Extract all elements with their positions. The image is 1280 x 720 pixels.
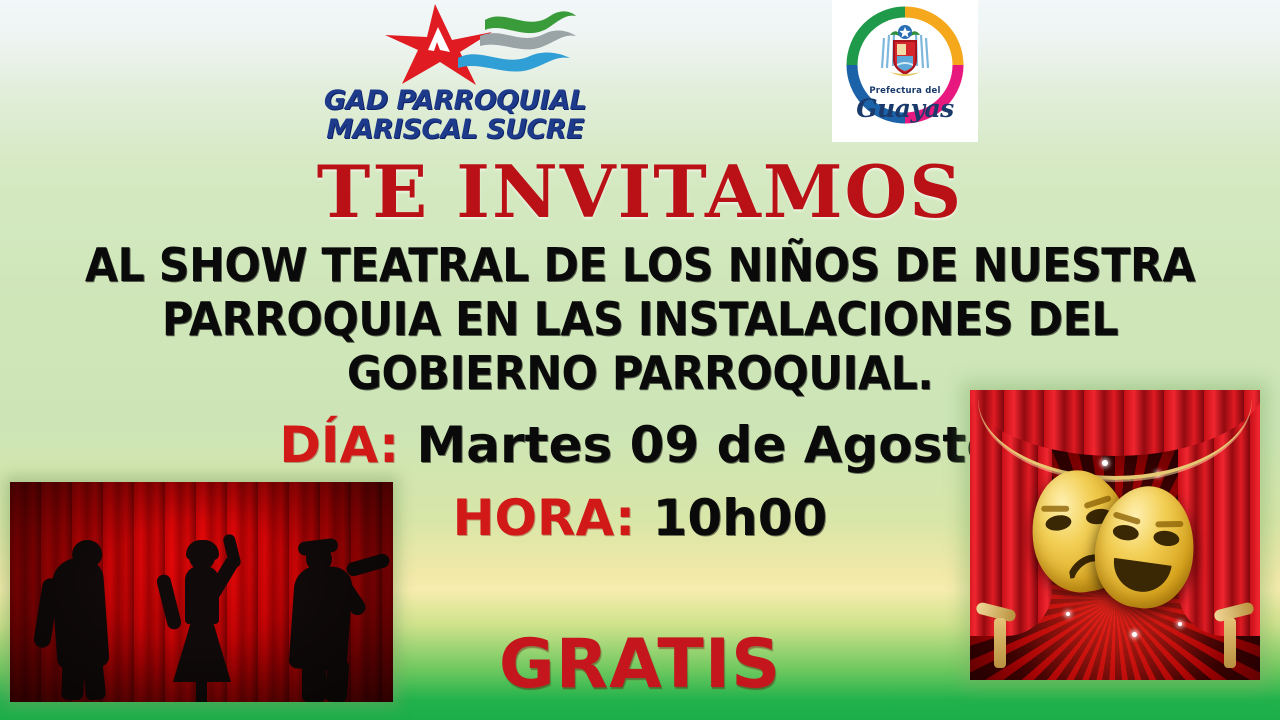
time-value: 10h00	[653, 489, 828, 547]
mask-brow-right	[1155, 521, 1183, 527]
photo-vignette	[10, 482, 393, 702]
sparkle	[1178, 622, 1182, 626]
theatre-masks-photo	[970, 390, 1260, 680]
mask-eye-left	[1112, 523, 1140, 541]
poster-body-text: AL SHOW TEATRAL DE LOS NIÑOS DE NUESTRA …	[82, 238, 1198, 400]
actor-silhouettes-photo	[10, 482, 393, 702]
curtain-tassel-left	[994, 618, 1006, 668]
gad-logo-title-line2: MARISCAL SUCRE	[326, 114, 583, 145]
star-swoosh-icon	[380, 2, 580, 87]
gad-parroquial-logo: GAD PARROQUIAL MARISCAL SUCRE	[300, 2, 610, 147]
poster-headline: TE INVITAMOS	[0, 156, 1280, 228]
mask-mouth-smile	[1110, 558, 1172, 596]
mask-brow-left	[1113, 511, 1142, 525]
day-value: Martes 09 de Agosto	[417, 416, 1001, 474]
sparkle	[1132, 632, 1137, 637]
gad-logo-title: GAD PARROQUIAL MARISCAL SUCRE	[300, 86, 610, 144]
guayas-coat-of-arms-icon	[876, 22, 934, 84]
prefectura-guayas-logo: Prefectura del Guayas	[832, 0, 978, 142]
body-line-2: PARROQUIA EN LAS INSTALACIONES DEL	[82, 292, 1198, 346]
event-poster: GAD PARROQUIAL MARISCAL SUCRE	[0, 0, 1280, 720]
mask-brow-left	[1041, 506, 1069, 512]
sparkle	[1066, 612, 1070, 616]
guayas-logo-word-large: Guayas	[832, 94, 978, 123]
day-label: DÍA:	[279, 416, 399, 474]
mask-eye-right	[1152, 529, 1180, 547]
time-label: HORA:	[453, 489, 635, 547]
body-line-1: AL SHOW TEATRAL DE LOS NIÑOS DE NUESTRA	[82, 238, 1198, 292]
mask-brow-right	[1083, 495, 1111, 509]
gad-logo-title-line1: GAD PARROQUIAL	[324, 85, 586, 116]
curtain-tassel-right	[1224, 618, 1236, 668]
mask-eye-left	[1044, 513, 1072, 532]
